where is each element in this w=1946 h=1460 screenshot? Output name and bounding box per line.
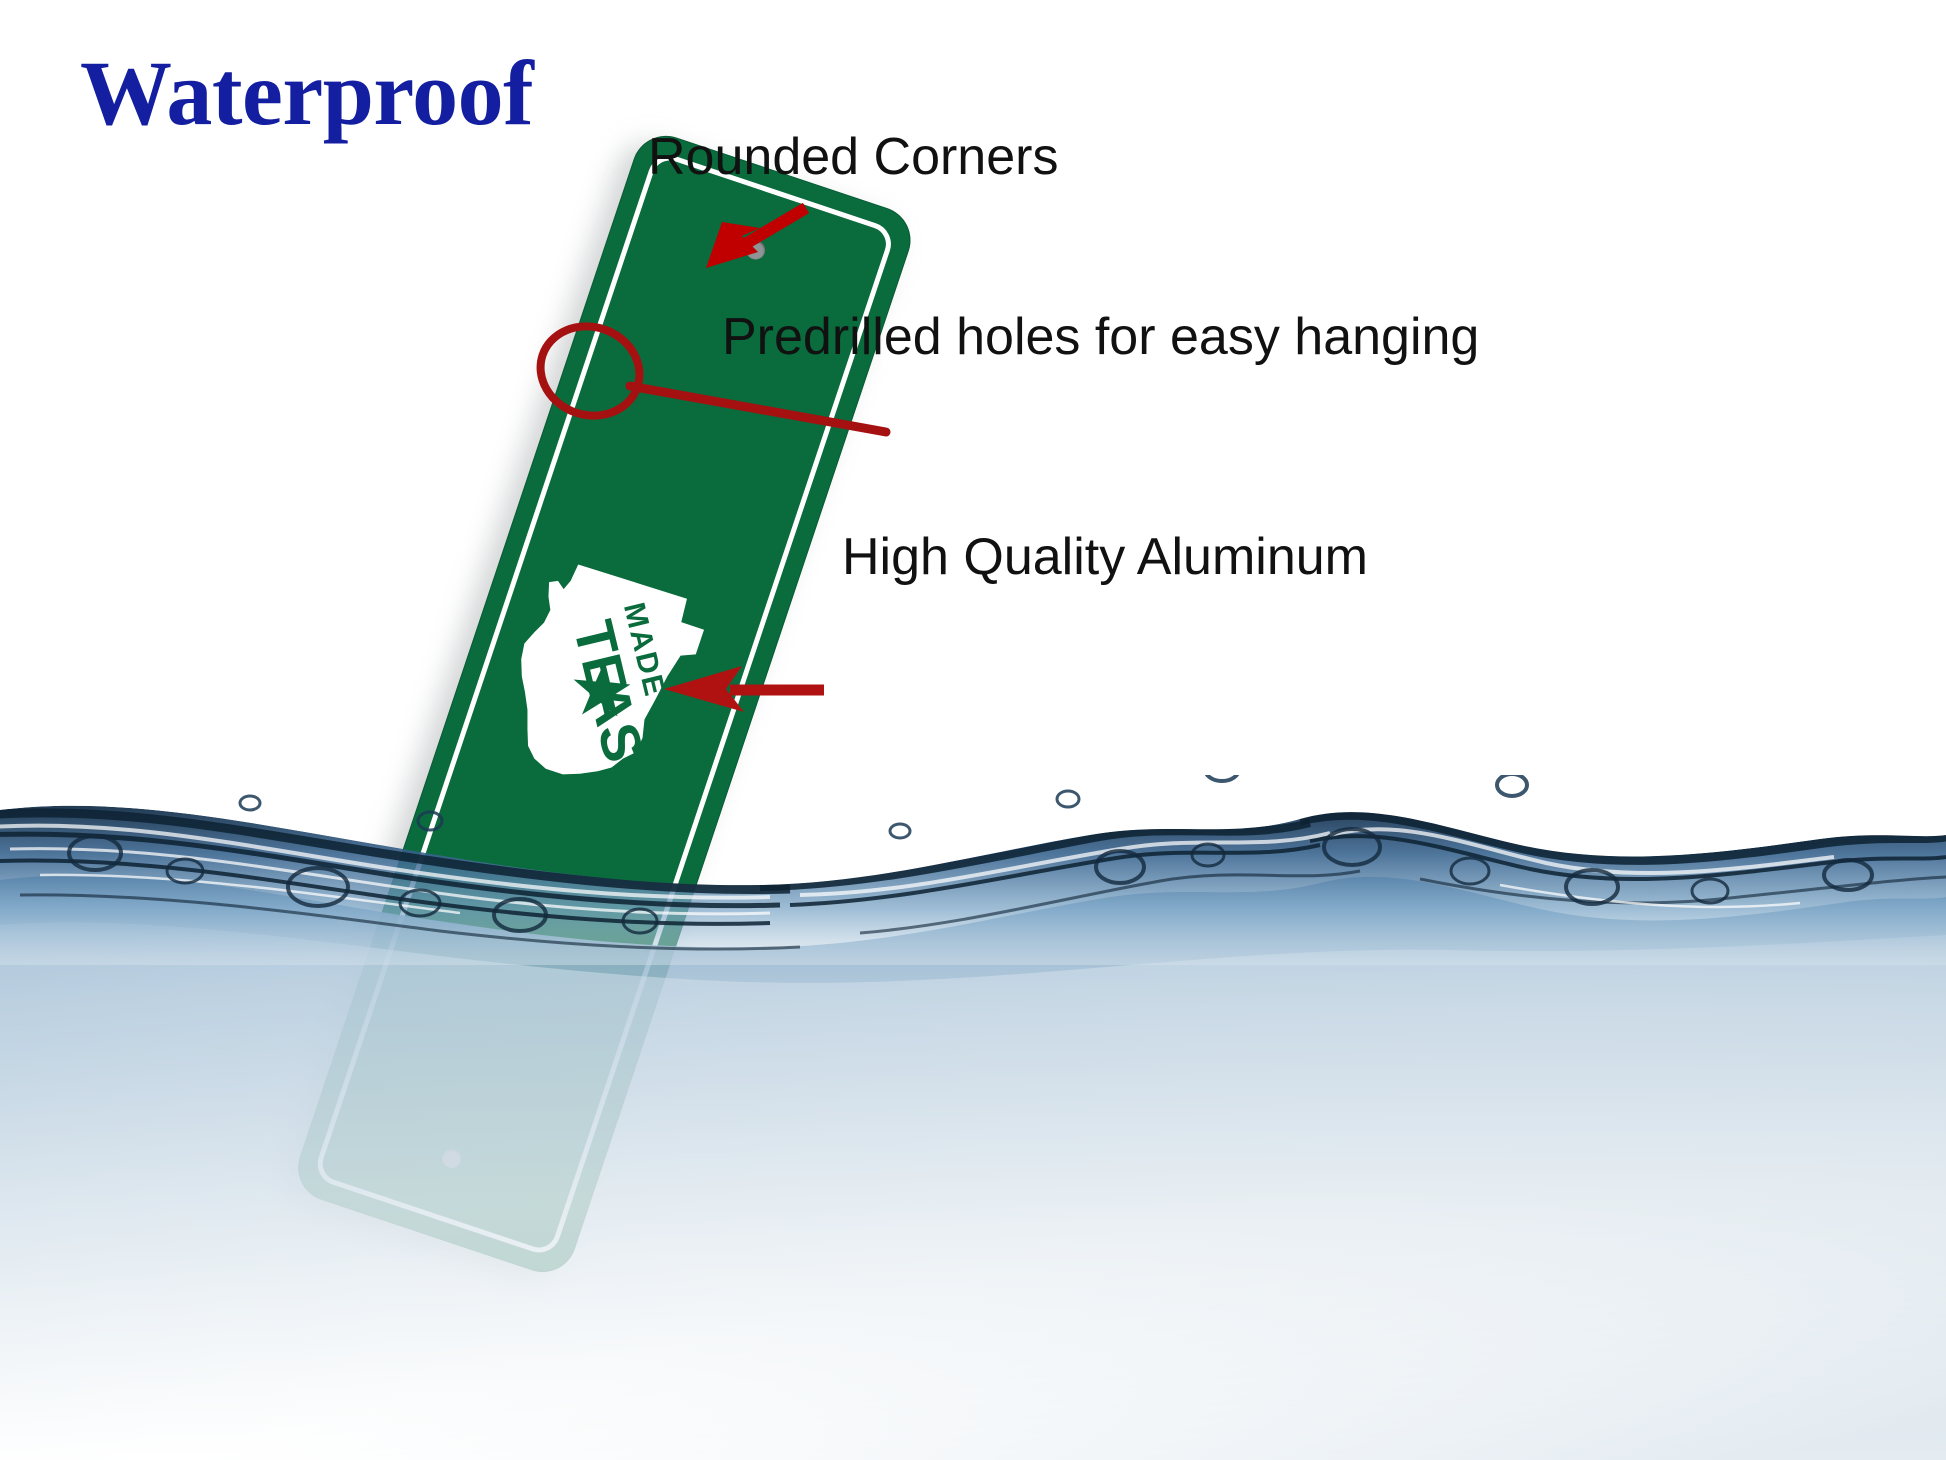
sign-aluminum-plate: MADE IN TE AS bbox=[289, 127, 919, 1281]
promo-graphic-canvas: MADE IN TE AS bbox=[0, 0, 1946, 1460]
annotation-label-rounded-corners: Rounded Corners bbox=[648, 127, 1058, 187]
annotation-label-high-quality-aluminum: High Quality Aluminum bbox=[842, 527, 1368, 587]
annotation-label-predrilled-holes: Predrilled holes for easy hanging bbox=[722, 307, 1479, 367]
page-title: Waterproof bbox=[80, 47, 533, 139]
